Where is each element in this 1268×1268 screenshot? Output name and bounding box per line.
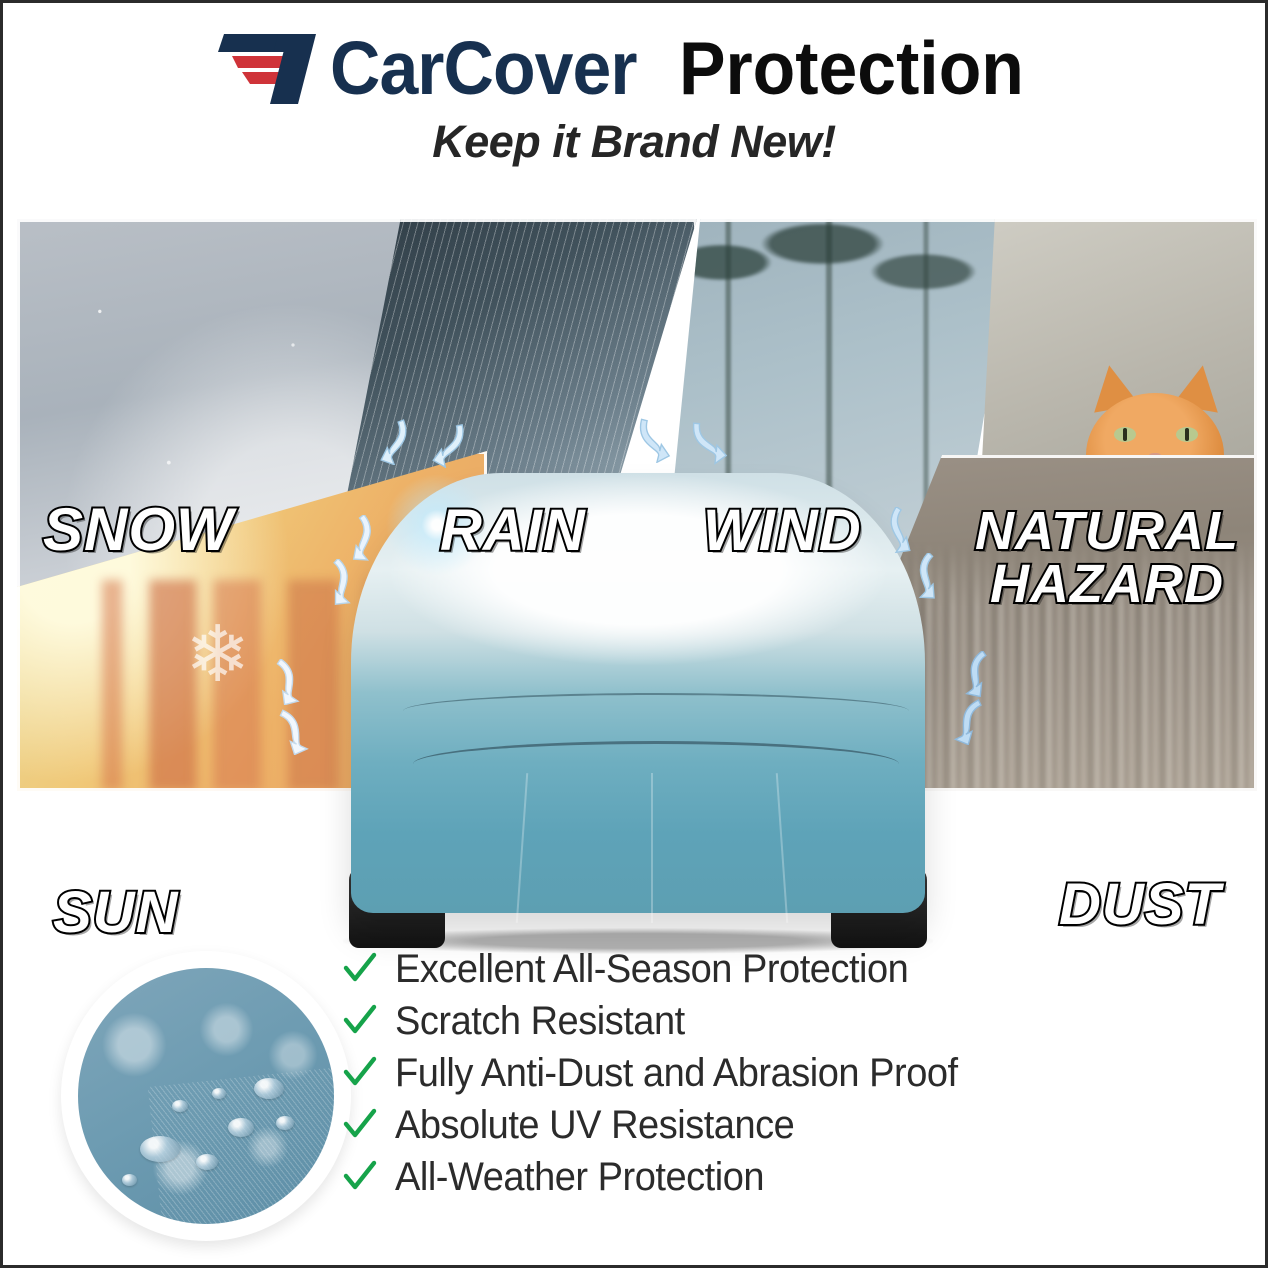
brand-suffix: Protection — [679, 31, 1024, 106]
green-check-icon — [343, 1160, 377, 1194]
deflection-arrow-icon — [947, 699, 993, 745]
icarcover-wing-logo-icon — [218, 32, 324, 106]
panel-label-rain: RAIN — [440, 503, 586, 560]
deflection-arrow-icon — [905, 553, 951, 599]
panel-label-dust: DUST — [1059, 877, 1221, 934]
cover-seam — [403, 693, 909, 711]
green-check-icon — [343, 1056, 377, 1090]
list-item: Scratch Resistant — [343, 995, 1223, 1047]
deflection-arrow-icon — [427, 422, 473, 468]
features-section: Excellent All-Season Protection Scratch … — [43, 943, 1233, 1243]
deflection-arrow-icon — [339, 515, 385, 561]
deflection-arrow-icon — [630, 417, 676, 463]
panel-label-snow: SNOW — [43, 501, 234, 560]
panel-label-sun: SUN — [53, 885, 178, 942]
green-check-icon — [343, 1004, 377, 1038]
list-item: Fully Anti-Dust and Abrasion Proof — [343, 1047, 1223, 1099]
deflection-arrow-icon — [263, 659, 309, 705]
deflection-arrow-icon — [877, 507, 923, 553]
product-infographic: CarCover Protection Keep it Brand New! — [0, 0, 1268, 1268]
tagline: Keep it Brand New! — [432, 116, 836, 168]
brand-name: CarCover — [330, 31, 637, 106]
cover-seam — [413, 741, 899, 764]
deflection-arrow-icon — [955, 651, 1001, 697]
feature-label: Fully Anti-Dust and Abrasion Proof — [395, 1051, 958, 1096]
list-item: All-Weather Protection — [343, 1151, 1223, 1203]
feature-checklist: Excellent All-Season Protection Scratch … — [343, 943, 1223, 1203]
title-row: CarCover Protection — [218, 31, 1051, 106]
deflection-arrow-icon — [317, 559, 363, 605]
snowflake-icon: ❄ — [185, 609, 250, 700]
green-check-icon — [343, 1108, 377, 1142]
deflection-arrow-icon — [685, 419, 731, 465]
panel-label-natural-hazard: NATURAL HAZARD — [967, 505, 1247, 611]
feature-label: Scratch Resistant — [395, 999, 685, 1044]
deflection-arrow-icon — [372, 419, 418, 465]
deflection-arrow-icon — [269, 709, 315, 755]
panel-label-wind: WIND — [703, 503, 862, 560]
feature-label: Absolute UV Resistance — [395, 1103, 794, 1148]
header: CarCover Protection Keep it Brand New! — [3, 31, 1265, 168]
list-item: Absolute UV Resistance — [343, 1099, 1223, 1151]
feature-label: All-Weather Protection — [395, 1155, 764, 1200]
water-beading-fabric-swatch-icon — [61, 951, 351, 1241]
green-check-icon — [343, 952, 377, 986]
